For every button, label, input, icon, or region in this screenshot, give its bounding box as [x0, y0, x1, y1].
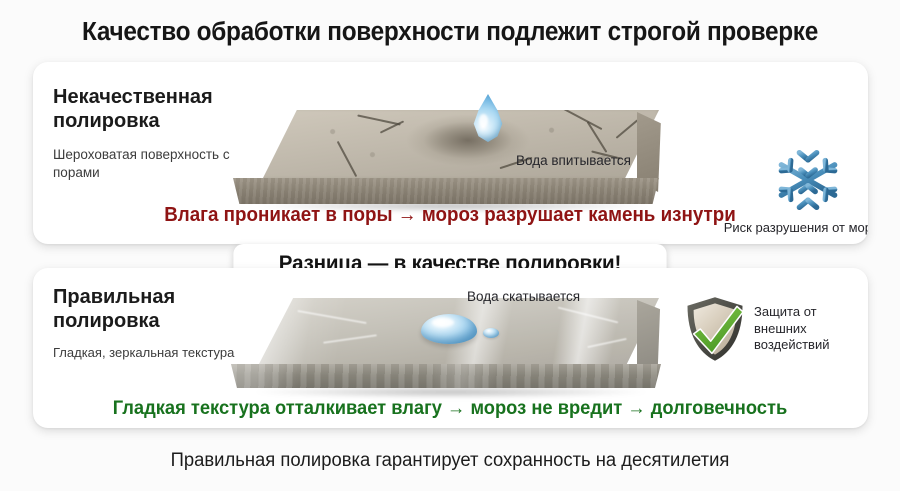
label-water-absorbs: Вода впитывается	[516, 153, 631, 168]
infographic-canvas: Качество обработки поверхности подлежит …	[0, 0, 900, 491]
card-heading-poor: Некачественная полировка	[53, 86, 263, 133]
protection-caption: Защита от внешних воздействий	[754, 304, 864, 354]
water-bead-large-icon	[421, 314, 477, 344]
slab-front-edge-rough	[233, 178, 659, 204]
shield-check-icon	[684, 296, 746, 362]
label-water-rolls-off: Вода скатывается	[467, 289, 580, 304]
banner-durability-benefit: Гладкая текстура отталкивает влагу → мор…	[27, 397, 873, 420]
water-bead-small-icon	[483, 328, 499, 338]
banner-moisture-warning: Влага проникает в поры → мороз разрушает…	[27, 204, 873, 227]
protection-block: Защита от внешних воздействий	[684, 296, 864, 362]
slab-front-edge-polished	[231, 364, 661, 388]
footer-note: Правильная полировка гарантирует сохранн…	[14, 450, 887, 472]
slab-top-surface-rough	[261, 110, 659, 182]
page-title: Качество обработки поверхности подлежит …	[20, 18, 880, 47]
